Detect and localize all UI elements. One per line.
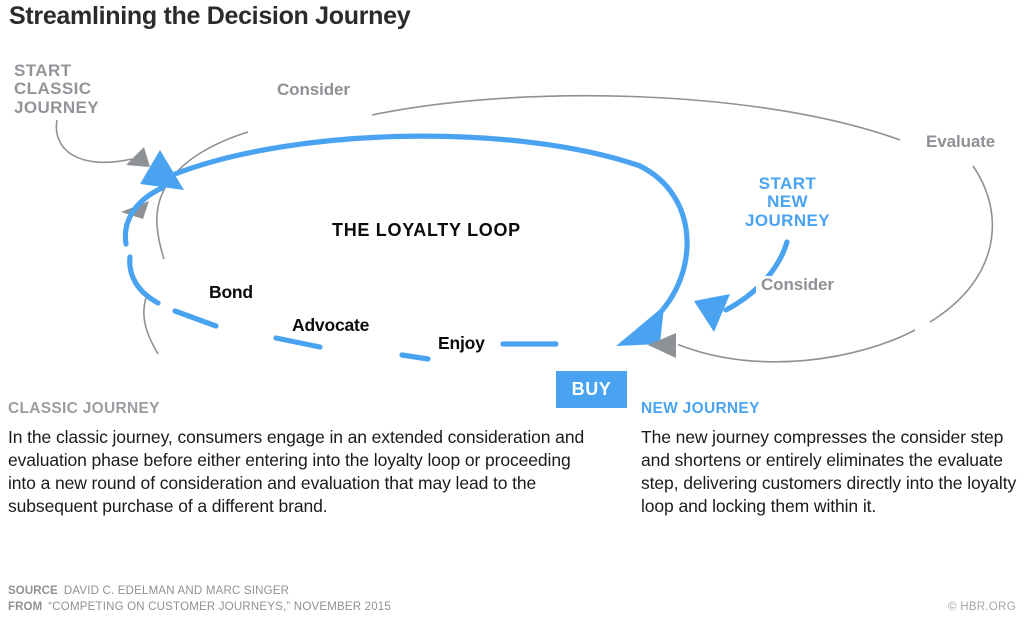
footer-source-row: SOURCE DAVID C. EDELMAN AND MARC SINGER (8, 585, 1016, 601)
loyalty-loop-advocate-dash (276, 338, 320, 347)
footer-from-row: FROM “COMPETING ON CUSTOMER JOURNEYS,” N… (8, 601, 1016, 617)
classic-consider-arc-right (372, 96, 900, 140)
footer-from-value: “COMPETING ON CUSTOMER JOURNEYS,” NOVEMB… (48, 601, 391, 613)
loyalty-step-enjoy: Enjoy (433, 334, 490, 353)
classic-return-arc (678, 330, 915, 362)
footer-source-key: SOURCE (8, 585, 58, 597)
page-title: Streamlining the Decision Journey (9, 2, 410, 31)
new-journey-body: The new journey compresses the consider … (641, 426, 1021, 518)
start-new-arrowhead (694, 294, 730, 332)
diagram-paths: .gstroke { fill:none; stroke:#8e9195; st… (0, 44, 1024, 390)
start-classic-journey-label: STARTCLASSICJOURNEY (14, 62, 99, 117)
new-consider-label: Consider (756, 276, 839, 294)
footer-from-key: FROM (8, 601, 42, 613)
loyalty-loop-right-arc (640, 166, 687, 318)
new-journey-column: NEW JOURNEY The new journey compresses t… (641, 400, 1021, 518)
footer: SOURCE DAVID C. EDELMAN AND MARC SINGER … (8, 585, 1016, 617)
loyalty-loop-bond-segment (130, 257, 158, 303)
classic-evaluate-label: Evaluate (921, 133, 1000, 151)
classic-journey-column: CLASSIC JOURNEY In the classic journey, … (8, 400, 588, 518)
loyalty-step-bond: Bond (204, 283, 258, 302)
start-classic-leader-line (56, 120, 132, 162)
loyalty-loop-buy-arrowhead (616, 306, 664, 346)
buy-label: BUY (572, 379, 612, 400)
start-new-journey-label: STARTNEWJOURNEY (735, 175, 840, 230)
hbr-credit: © HBR.ORG (948, 601, 1016, 613)
loyalty-loop-title: THE LOYALTY LOOP (327, 221, 526, 240)
loyalty-loop-top-arc (175, 136, 640, 174)
classic-journey-body: In the classic journey, consumers engage… (8, 426, 588, 518)
loyalty-step-advocate: Advocate (287, 316, 374, 335)
classic-journey-heading: CLASSIC JOURNEY (8, 400, 588, 418)
new-journey-heading: NEW JOURNEY (641, 400, 1021, 418)
loyalty-loop-bond-dash (175, 311, 216, 326)
classic-evaluate-arc (930, 166, 992, 322)
footer-source-value: DAVID C. EDELMAN AND MARC SINGER (64, 585, 289, 597)
classic-consider-label: Consider (272, 81, 355, 99)
decision-journey-diagram: .gstroke { fill:none; stroke:#8e9195; st… (0, 44, 1024, 390)
loyalty-loop-enjoy-dash (402, 355, 428, 359)
start-classic-arrowhead (126, 147, 150, 167)
classic-entry-hook-upper (157, 207, 164, 259)
